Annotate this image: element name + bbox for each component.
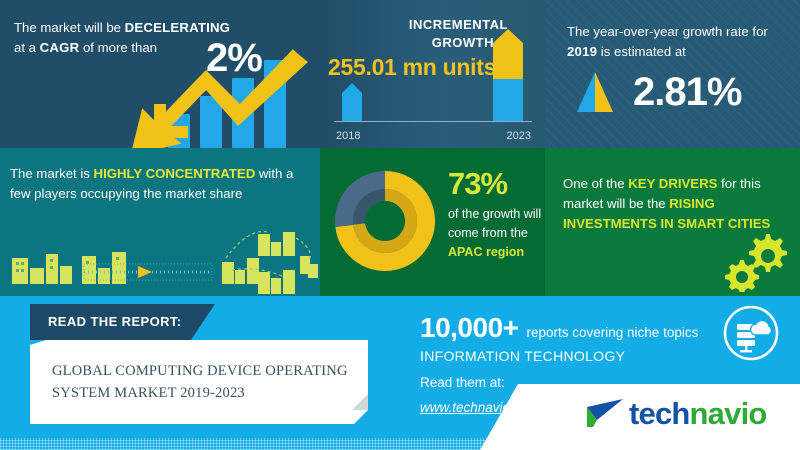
reports-count-value: 10,000+ xyxy=(420,312,519,343)
cagr-text-bold: DECELERATING xyxy=(125,20,230,35)
key-drivers-text: One of the KEY DRIVERS for this market w… xyxy=(563,174,785,234)
yoy-text-pre: The year-over-year growth rate for xyxy=(567,24,768,39)
cagr-bold-2: CAGR xyxy=(40,40,80,55)
read-the-report-label: READ THE REPORT: xyxy=(48,314,182,329)
reports-count-label: reports covering niche topics xyxy=(527,325,699,340)
report-title-card[interactable]: GLOBAL COMPUTING DEVICE OPERATING SYSTEM… xyxy=(30,340,368,424)
triangle-growth-icon xyxy=(573,72,617,112)
panel-yoy-growth: The year-over-year growth rate for 2019 … xyxy=(545,0,800,148)
incremental-growth-label: INCREMENTAL GROWTH xyxy=(348,16,508,52)
year-end-label: 2023 xyxy=(507,130,531,142)
key-drivers-bold-1: KEY DRIVERS xyxy=(628,176,717,191)
cagr-text-line2-pre: at a xyxy=(14,40,40,55)
city-clusters-icon xyxy=(0,226,320,296)
cagr-text-line1-pre: The market will be xyxy=(14,20,125,35)
growth-column-2023-icon xyxy=(493,29,523,121)
concentration-text: The market is HIGHLY CONCENTRATED with a… xyxy=(10,164,306,204)
top-row: The market will be DECELERATING at a CAG… xyxy=(0,0,800,148)
report-title: GLOBAL COMPUTING DEVICE OPERATING SYSTEM… xyxy=(52,360,352,404)
panel-key-drivers: One of the KEY DRIVERS for this market w… xyxy=(545,148,800,296)
apac-text-block: 73% of the growth will come from the APA… xyxy=(448,168,546,262)
infographic-root: The market will be DECELERATING at a CAG… xyxy=(0,0,800,450)
yoy-year: 2019 xyxy=(567,44,597,59)
concentration-text-bold: HIGHLY CONCENTRATED xyxy=(94,166,256,181)
apac-subtext-line1: of the growth will xyxy=(448,207,541,221)
concentration-text-pre: The market is xyxy=(10,166,94,181)
logo-text-tech: tech xyxy=(629,396,690,431)
panel-apac-share: 73% of the growth will come from the APA… xyxy=(320,148,545,296)
technavio-logo[interactable]: technavio xyxy=(585,396,767,430)
yoy-text-post: is estimated at xyxy=(597,44,686,59)
technavio-wordmark: technavio xyxy=(629,398,767,429)
year-start-label: 2018 xyxy=(336,130,360,142)
paper-plane-icon xyxy=(585,396,625,430)
growth-axis-line xyxy=(334,121,532,122)
cagr-value: 2% xyxy=(206,38,262,78)
industry-label: INFORMATION TECHNOLOGY xyxy=(420,348,625,364)
panel-market-concentration: The market is HIGHLY CONCENTRATED with a… xyxy=(0,148,320,296)
cloud-server-icon xyxy=(722,304,780,362)
key-drivers-text-pre: One of the xyxy=(563,176,628,191)
gears-icon xyxy=(720,230,792,292)
growth-column-2018-icon xyxy=(342,83,362,121)
yoy-text: The year-over-year growth rate for 2019 … xyxy=(567,22,782,62)
yoy-value: 2.81% xyxy=(633,72,741,112)
panel-cagr: The market will be DECELERATING at a CAG… xyxy=(0,0,320,148)
reports-count-block: 10,000+reports covering niche topics xyxy=(420,312,698,344)
apac-percent-value: 73% xyxy=(448,168,546,199)
donut-chart xyxy=(330,166,440,276)
panel-incremental-growth: INCREMENTAL GROWTH 255.01 mn units 2018 … xyxy=(320,0,545,148)
middle-row: The market is HIGHLY CONCENTRATED with a… xyxy=(0,148,800,296)
bottom-bar: READ THE REPORT: GLOBAL COMPUTING DEVICE… xyxy=(0,296,800,450)
logo-text-navio: navio xyxy=(690,396,767,431)
apac-region-label: APAC region xyxy=(448,245,524,259)
read-the-report-tab[interactable]: READ THE REPORT: xyxy=(30,304,215,340)
incremental-growth-label-line2: GROWTH xyxy=(432,35,494,50)
apac-subtext-line2: come from the xyxy=(448,226,528,240)
yoy-value-wrap: 2.81% xyxy=(573,72,741,112)
bottom-dot-pattern xyxy=(0,438,800,450)
read-them-at-label: Read them at: xyxy=(420,375,505,390)
apac-subtext: of the growth will come from the APAC re… xyxy=(448,205,546,262)
